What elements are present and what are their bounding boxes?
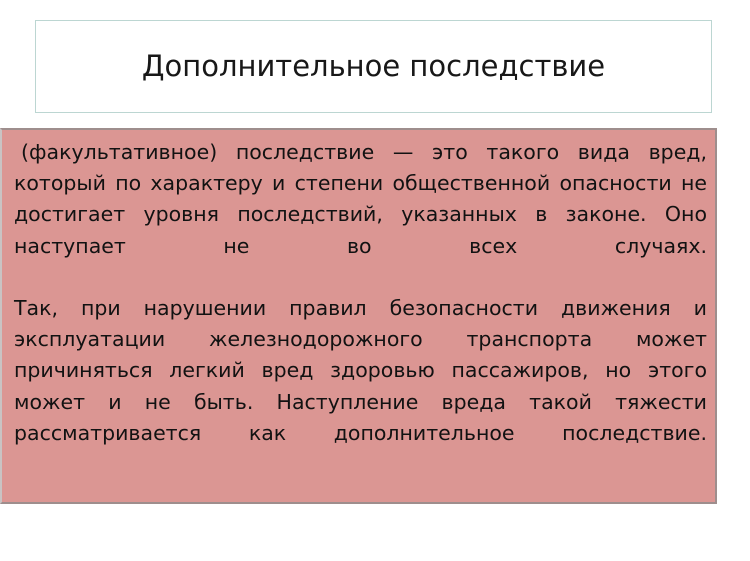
body-content-box: (факультативное) последствие — это таког… xyxy=(0,128,717,504)
title-box: Дополнительное последствие xyxy=(35,20,712,113)
page-title: Дополнительное последствие xyxy=(142,51,605,83)
body-paragraph-1: (факультативное) последствие — это таког… xyxy=(14,137,707,293)
slide-canvas: Дополнительное последствие (факультативн… xyxy=(0,0,750,561)
body-text-container: (факультативное) последствие — это таког… xyxy=(14,137,707,480)
body-paragraph-2: Так, при нарушении правил безопасности д… xyxy=(14,293,707,480)
